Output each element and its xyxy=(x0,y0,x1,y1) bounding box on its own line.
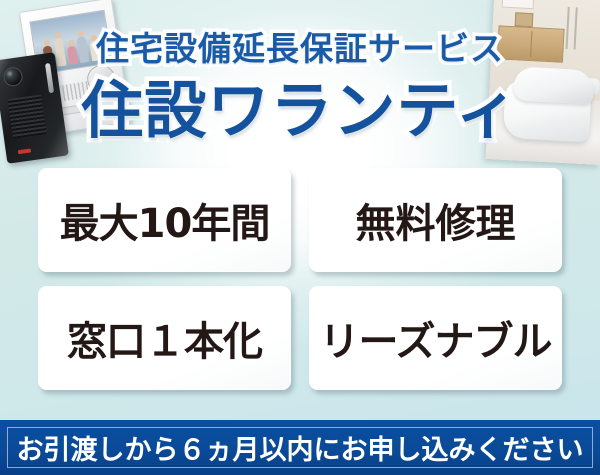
feature-card-single-contact: 窓口１本化 xyxy=(38,286,291,390)
feature-card-duration: 最大10年間 xyxy=(38,168,291,272)
toilet-room-image xyxy=(486,0,600,165)
feature-label: 無料修理 xyxy=(356,191,516,249)
family-figure xyxy=(76,36,89,63)
camera-speaker-grille xyxy=(8,94,47,138)
camera-call-led xyxy=(18,148,31,154)
hero-photo-strip xyxy=(0,0,600,160)
feature-card-free-repair: 無料修理 xyxy=(309,168,562,272)
toilet-lid xyxy=(513,66,595,104)
cta-banner: お引渡しから６ヵ月以内にお申し込みください xyxy=(0,420,600,475)
camera-side-strip xyxy=(45,63,54,93)
family-figure xyxy=(89,40,101,61)
feature-label: 窓口１本化 xyxy=(67,309,262,367)
family-figure xyxy=(67,46,79,65)
cta-text: お引渡しから６ヵ月以内にお申し込みください xyxy=(17,428,584,467)
toilet-vent xyxy=(502,0,534,9)
monitor-dial xyxy=(85,63,117,95)
camera-lens-icon xyxy=(2,66,23,87)
toilet-shelf-box xyxy=(515,12,534,27)
feature-label: 最大10年間 xyxy=(60,191,270,249)
cta-inner-frame: お引渡しから６ヵ月以内にお申し込みください xyxy=(7,427,593,468)
feature-card-grid: 最大10年間 無料修理 窓口１本化 リーズナブル xyxy=(38,168,562,390)
feature-label: リーズナブル xyxy=(320,309,552,367)
toilet-cabinet xyxy=(497,25,565,62)
warranty-service-banner: 住宅設備延長保証サービス 住設ワランティ 最大10年間 無料修理 窓口１本化 リ… xyxy=(0,0,600,475)
feature-card-reasonable: リーズナブル xyxy=(309,286,562,390)
